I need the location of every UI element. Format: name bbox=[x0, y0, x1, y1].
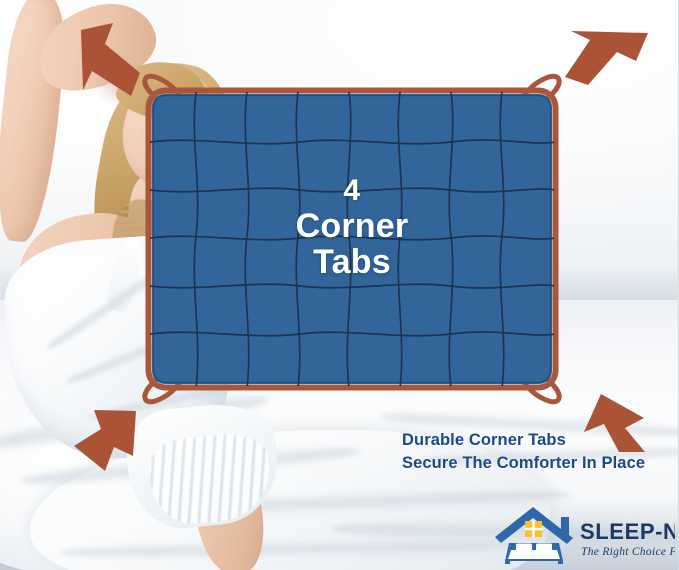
tagline-line-1: Durable Corner Tabs bbox=[402, 429, 662, 452]
brand-name: SLEEP-NEST bbox=[580, 519, 675, 544]
comforter-illustration bbox=[146, 88, 558, 390]
arrow-pointing-down-left-icon bbox=[565, 31, 648, 85]
comforter-shading bbox=[146, 88, 558, 390]
house-with-bed-icon bbox=[495, 507, 573, 564]
arrow-pointing-up-right-icon bbox=[74, 410, 136, 471]
brand-logo: SLEEP-NEST The Right Choice For You bbox=[489, 503, 675, 565]
product-image-canvas: 4 Corner Tabs Durable Corner Tabs Secure… bbox=[0, 0, 679, 570]
tagline-line-2: Secure The Comforter In Place bbox=[402, 452, 662, 475]
brand-slogan: The Right Choice For You bbox=[581, 546, 675, 558]
arrow-pointing-down-right-icon bbox=[81, 23, 140, 96]
feature-tagline: Durable Corner Tabs Secure The Comforter… bbox=[402, 429, 662, 476]
